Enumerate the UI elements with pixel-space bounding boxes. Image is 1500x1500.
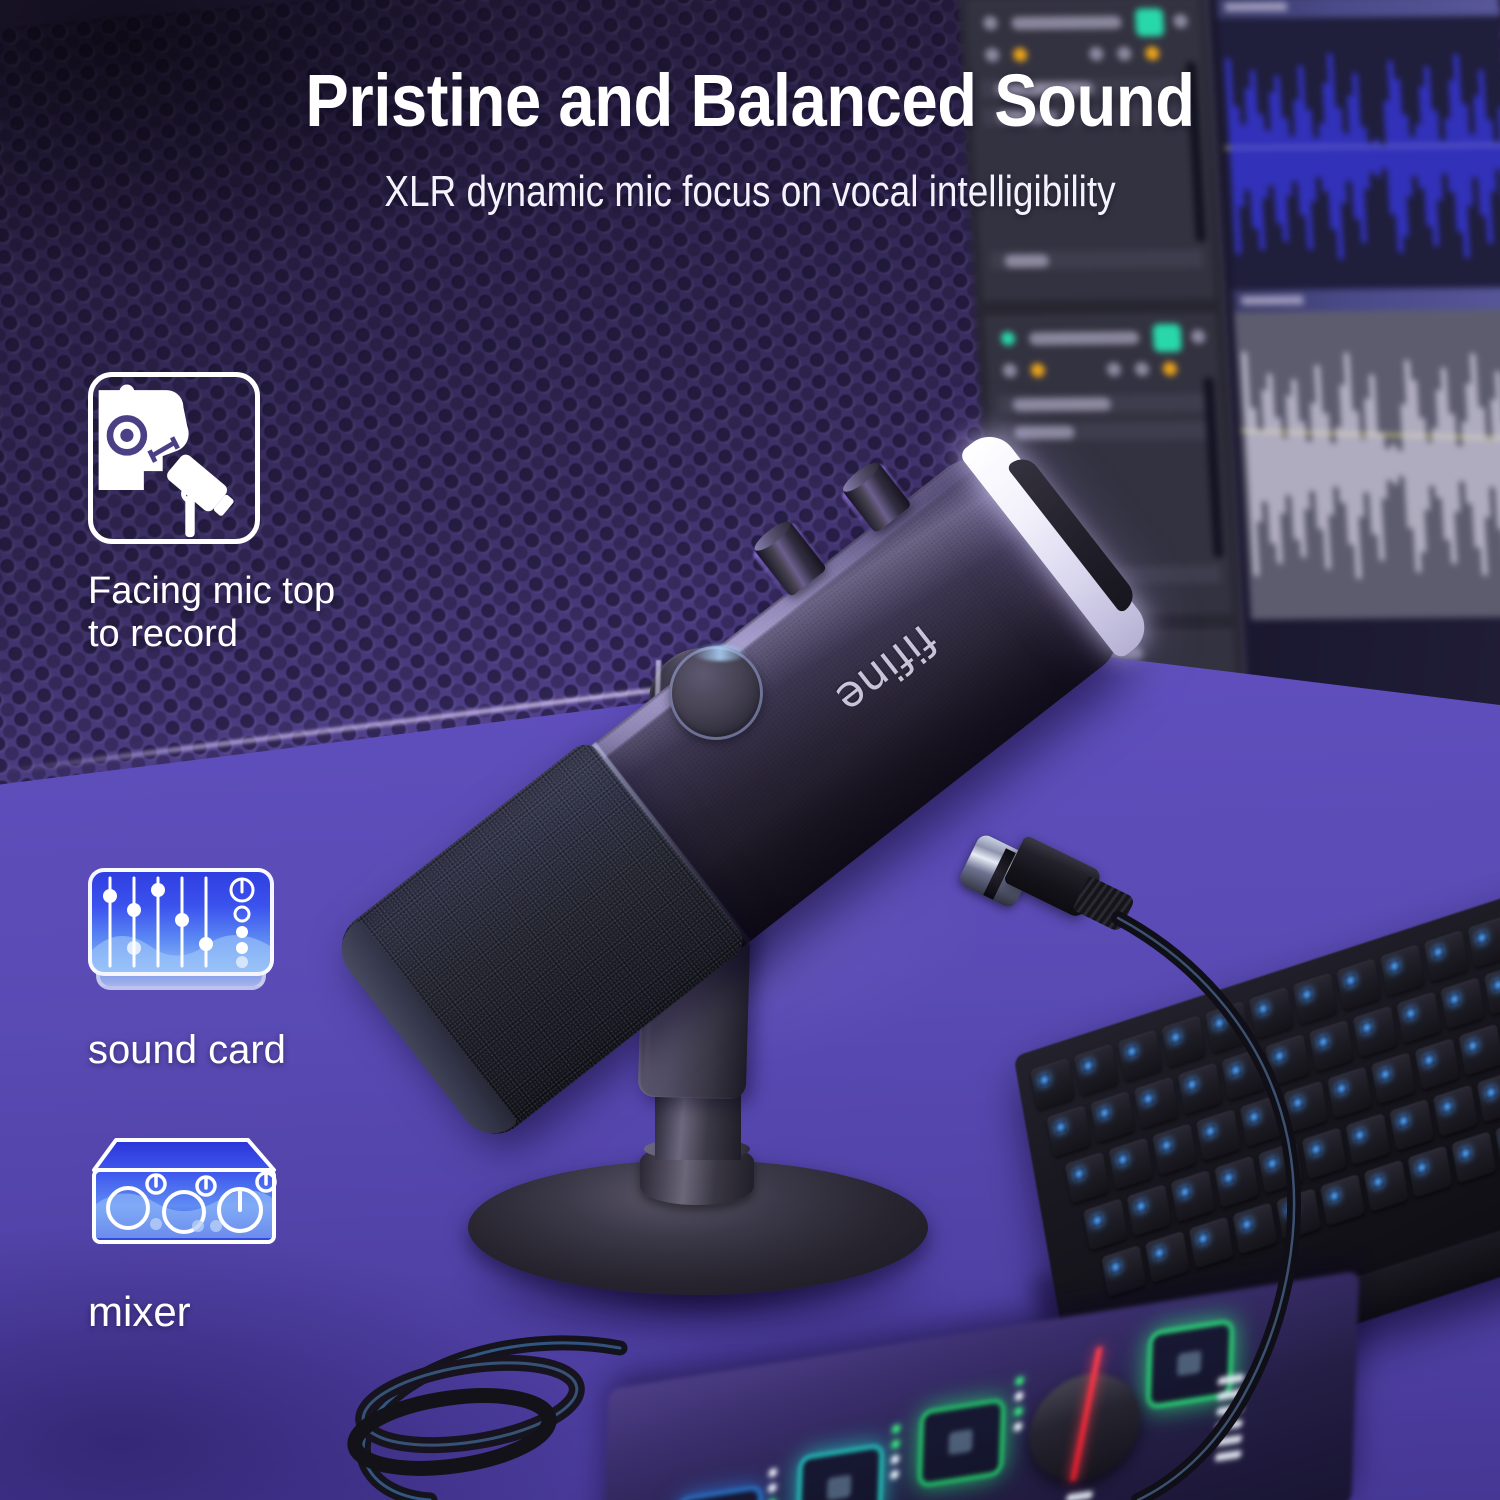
head-with-headphones-facing-mic-icon <box>88 372 260 544</box>
sound-card-icon <box>88 868 274 994</box>
feature-mixer: mixer <box>88 1132 408 1336</box>
page-subtitle: XLR dynamic mic focus on vocal intelligi… <box>120 170 1380 214</box>
feature-label-line1: Facing mic top <box>88 570 388 613</box>
feature-label: sound card <box>88 1028 408 1074</box>
mixer-glyph <box>88 1132 284 1264</box>
feature-sound-card: sound card <box>88 868 408 1074</box>
sound-card-glyph <box>92 872 270 972</box>
head-mic-glyph <box>93 377 255 539</box>
feature-label: mixer <box>88 1288 408 1336</box>
feature-label: Facing mic top to record <box>88 570 388 657</box>
mic-pivot-glint <box>692 645 748 661</box>
sound-card-face <box>88 868 274 976</box>
page-title: Pristine and Balanced Sound <box>90 64 1410 138</box>
feature-facing-mic-to-record: Facing mic top to record <box>88 372 388 657</box>
mixer-icon <box>88 1132 284 1264</box>
product-marketing-image: fifine Pristine and Balanced Sound XLR d… <box>0 0 1500 1500</box>
feature-label-line2: to record <box>88 613 388 656</box>
